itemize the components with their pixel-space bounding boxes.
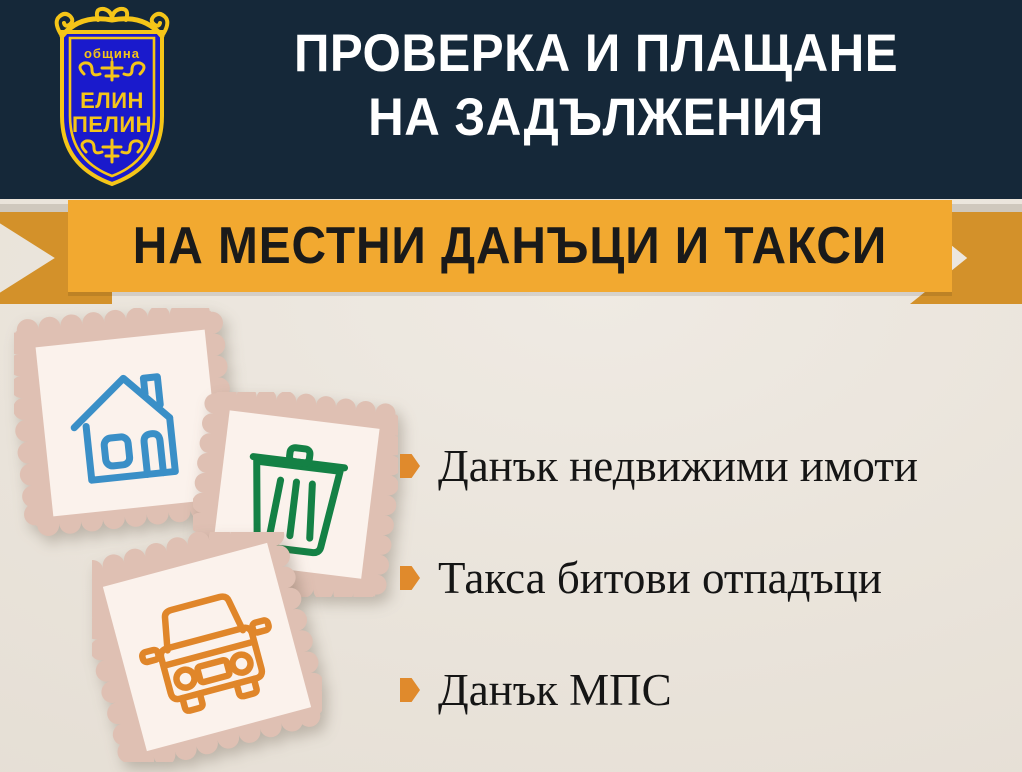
service-list: Данък недвижими имоти Такса битови отпад… [400,424,1010,732]
ribbon-label: НА МЕСТНИ ДАНЪЦИ И ТАКСИ [133,220,887,272]
list-item-label: Данък недвижими имоти [438,441,918,491]
list-item-label: Данък МПС [438,665,672,715]
subtitle-ribbon: НА МЕСТНИ ДАНЪЦИ И ТАКСИ [0,196,1022,304]
list-item[interactable]: Данък недвижими имоти [400,424,1010,508]
svg-text:община: община [84,46,140,61]
svg-text:ЕЛИН: ЕЛИН [80,88,144,113]
arrow-bullet-icon [400,678,420,702]
svg-text:ПЕЛИН: ПЕЛИН [72,112,152,137]
list-item[interactable]: Данък МПС [400,648,1010,732]
poster-canvas: община ЕЛИН ПЕЛИН ПРОВЕРКА И ПЛАЩАНЕ НА … [0,0,1022,772]
municipality-emblem: община ЕЛИН ПЕЛИН [40,6,184,188]
stamp-card-car [92,532,322,767]
ribbon-body: НА МЕСТНИ ДАНЪЦИ И ТАКСИ [68,200,952,292]
list-item[interactable]: Такса битови отпадъци [400,536,1010,620]
poster-title: ПРОВЕРКА И ПЛАЩАНЕ НА ЗАДЪЛЖЕНИЯ [190,22,1002,150]
arrow-bullet-icon [400,566,420,590]
list-item-label: Такса битови отпадъци [438,553,882,603]
poster-title-line-2: НА ЗАДЪЛЖЕНИЯ [218,86,973,150]
poster-title-line-1: ПРОВЕРКА И ПЛАЩАНЕ [218,22,973,86]
arrow-bullet-icon [400,454,420,478]
